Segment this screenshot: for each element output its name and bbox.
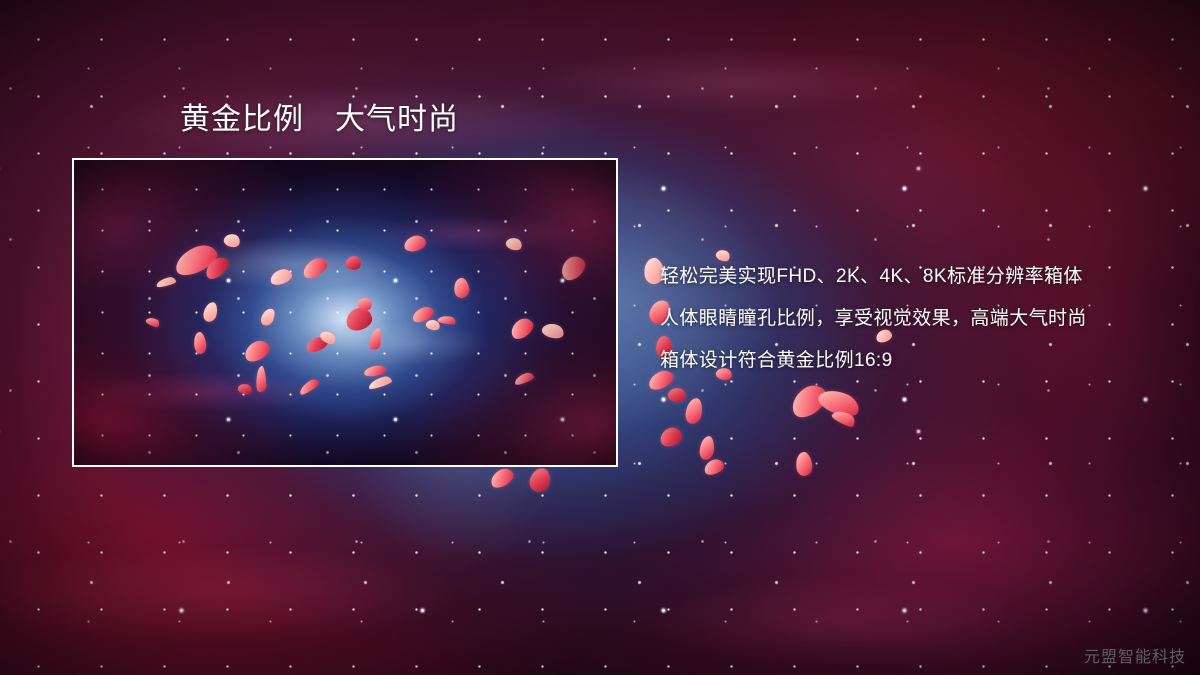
petal: [684, 397, 703, 425]
petal: [528, 466, 552, 493]
petal: [658, 425, 684, 448]
petal: [488, 465, 517, 490]
petal: [831, 407, 858, 429]
petal: [702, 457, 726, 477]
framed-image: [72, 158, 618, 467]
framed-image-content: [74, 160, 616, 465]
petal: [667, 386, 688, 403]
petal: [794, 451, 813, 477]
body-copy-line: 轻松完美实现FHD、2K、4K、8K标准分辨率箱体: [660, 256, 1180, 298]
inner-vignette: [74, 160, 616, 465]
petal: [699, 435, 715, 460]
page-title: 黄金比例 大气时尚: [180, 102, 459, 138]
petal: [815, 385, 862, 421]
petal: [786, 380, 832, 423]
watermark: 元盟智能科技: [1084, 643, 1186, 667]
body-copy-line: 人体眼睛瞳孔比例，享受视觉效果，高端大气时尚: [660, 298, 1180, 340]
slide-canvas: 黄金比例 大气时尚: [0, 0, 1200, 675]
body-copy: 轻松完美实现FHD、2K、4K、8K标准分辨率箱体 人体眼睛瞳孔比例，享受视觉效…: [660, 256, 1180, 382]
body-copy-line: 箱体设计符合黄金比例16:9: [660, 340, 1180, 382]
